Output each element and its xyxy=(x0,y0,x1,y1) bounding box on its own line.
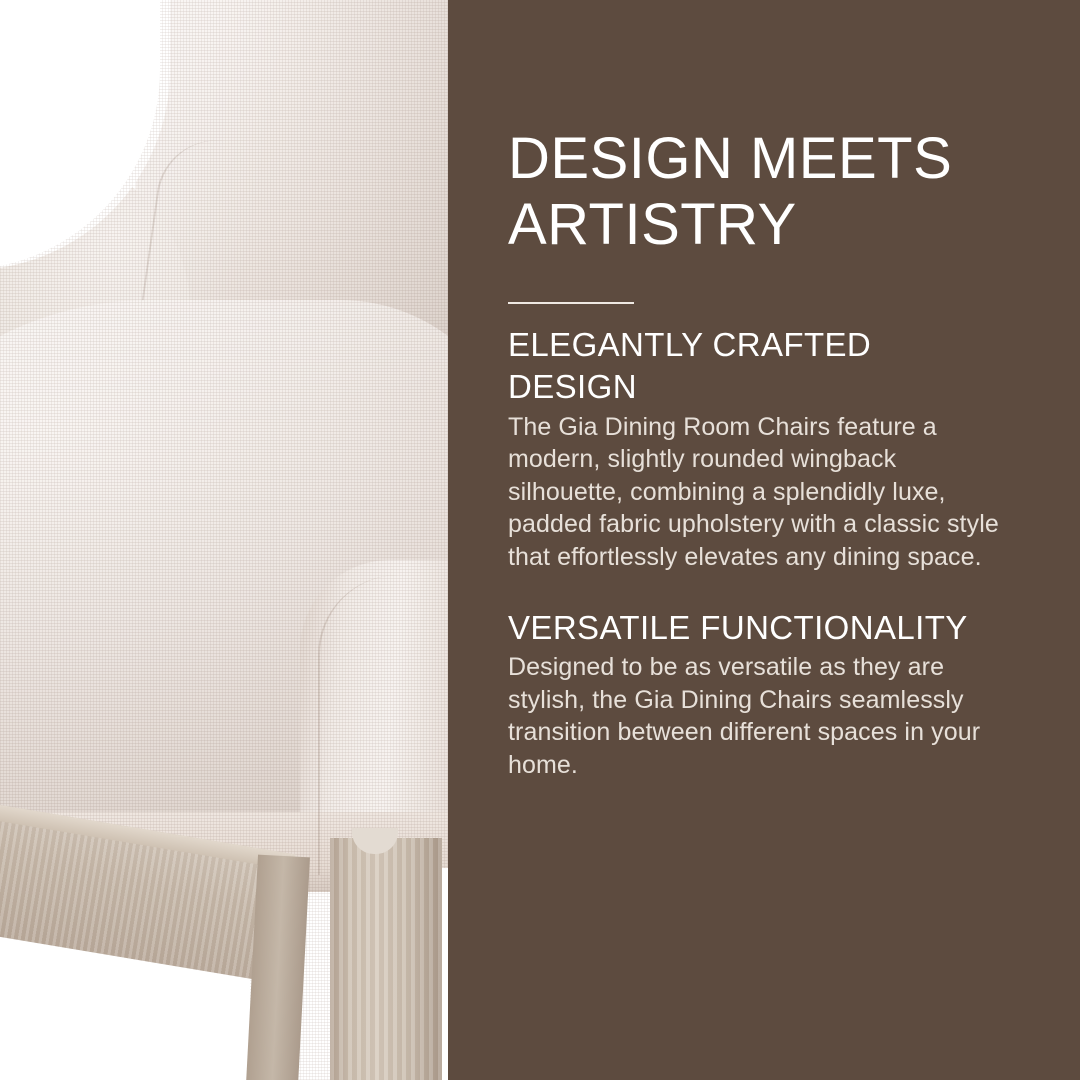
feature-title-functionality: VERSATILE FUNCTIONALITY xyxy=(508,607,1004,649)
product-photo xyxy=(0,0,448,1080)
feature-body-design: The Gia Dining Room Chairs feature a mod… xyxy=(508,411,1004,574)
divider-rule xyxy=(508,302,634,304)
feature-body-functionality: Designed to be as versatile as they are … xyxy=(508,651,1004,781)
headline-line-2: ARTISTRY xyxy=(508,192,797,257)
chair-front-leg xyxy=(330,838,442,1080)
copy-container: DESIGN MEETS ARTISTRY ELEGANTLY CRAFTED … xyxy=(508,0,1004,781)
feature-title-design: ELEGANTLY CRAFTED DESIGN xyxy=(508,324,1004,408)
feature-section-design: ELEGANTLY CRAFTED DESIGN The Gia Dining … xyxy=(508,324,1004,573)
poster-headline: DESIGN MEETS ARTISTRY xyxy=(508,126,1004,258)
copy-panel: DESIGN MEETS ARTISTRY ELEGANTLY CRAFTED … xyxy=(448,0,1080,1080)
product-feature-poster: DESIGN MEETS ARTISTRY ELEGANTLY CRAFTED … xyxy=(0,0,1080,1080)
feature-section-functionality: VERSATILE FUNCTIONALITY Designed to be a… xyxy=(508,607,1004,781)
headline-line-1: DESIGN MEETS xyxy=(508,126,952,191)
chair-back-leg xyxy=(246,855,310,1080)
